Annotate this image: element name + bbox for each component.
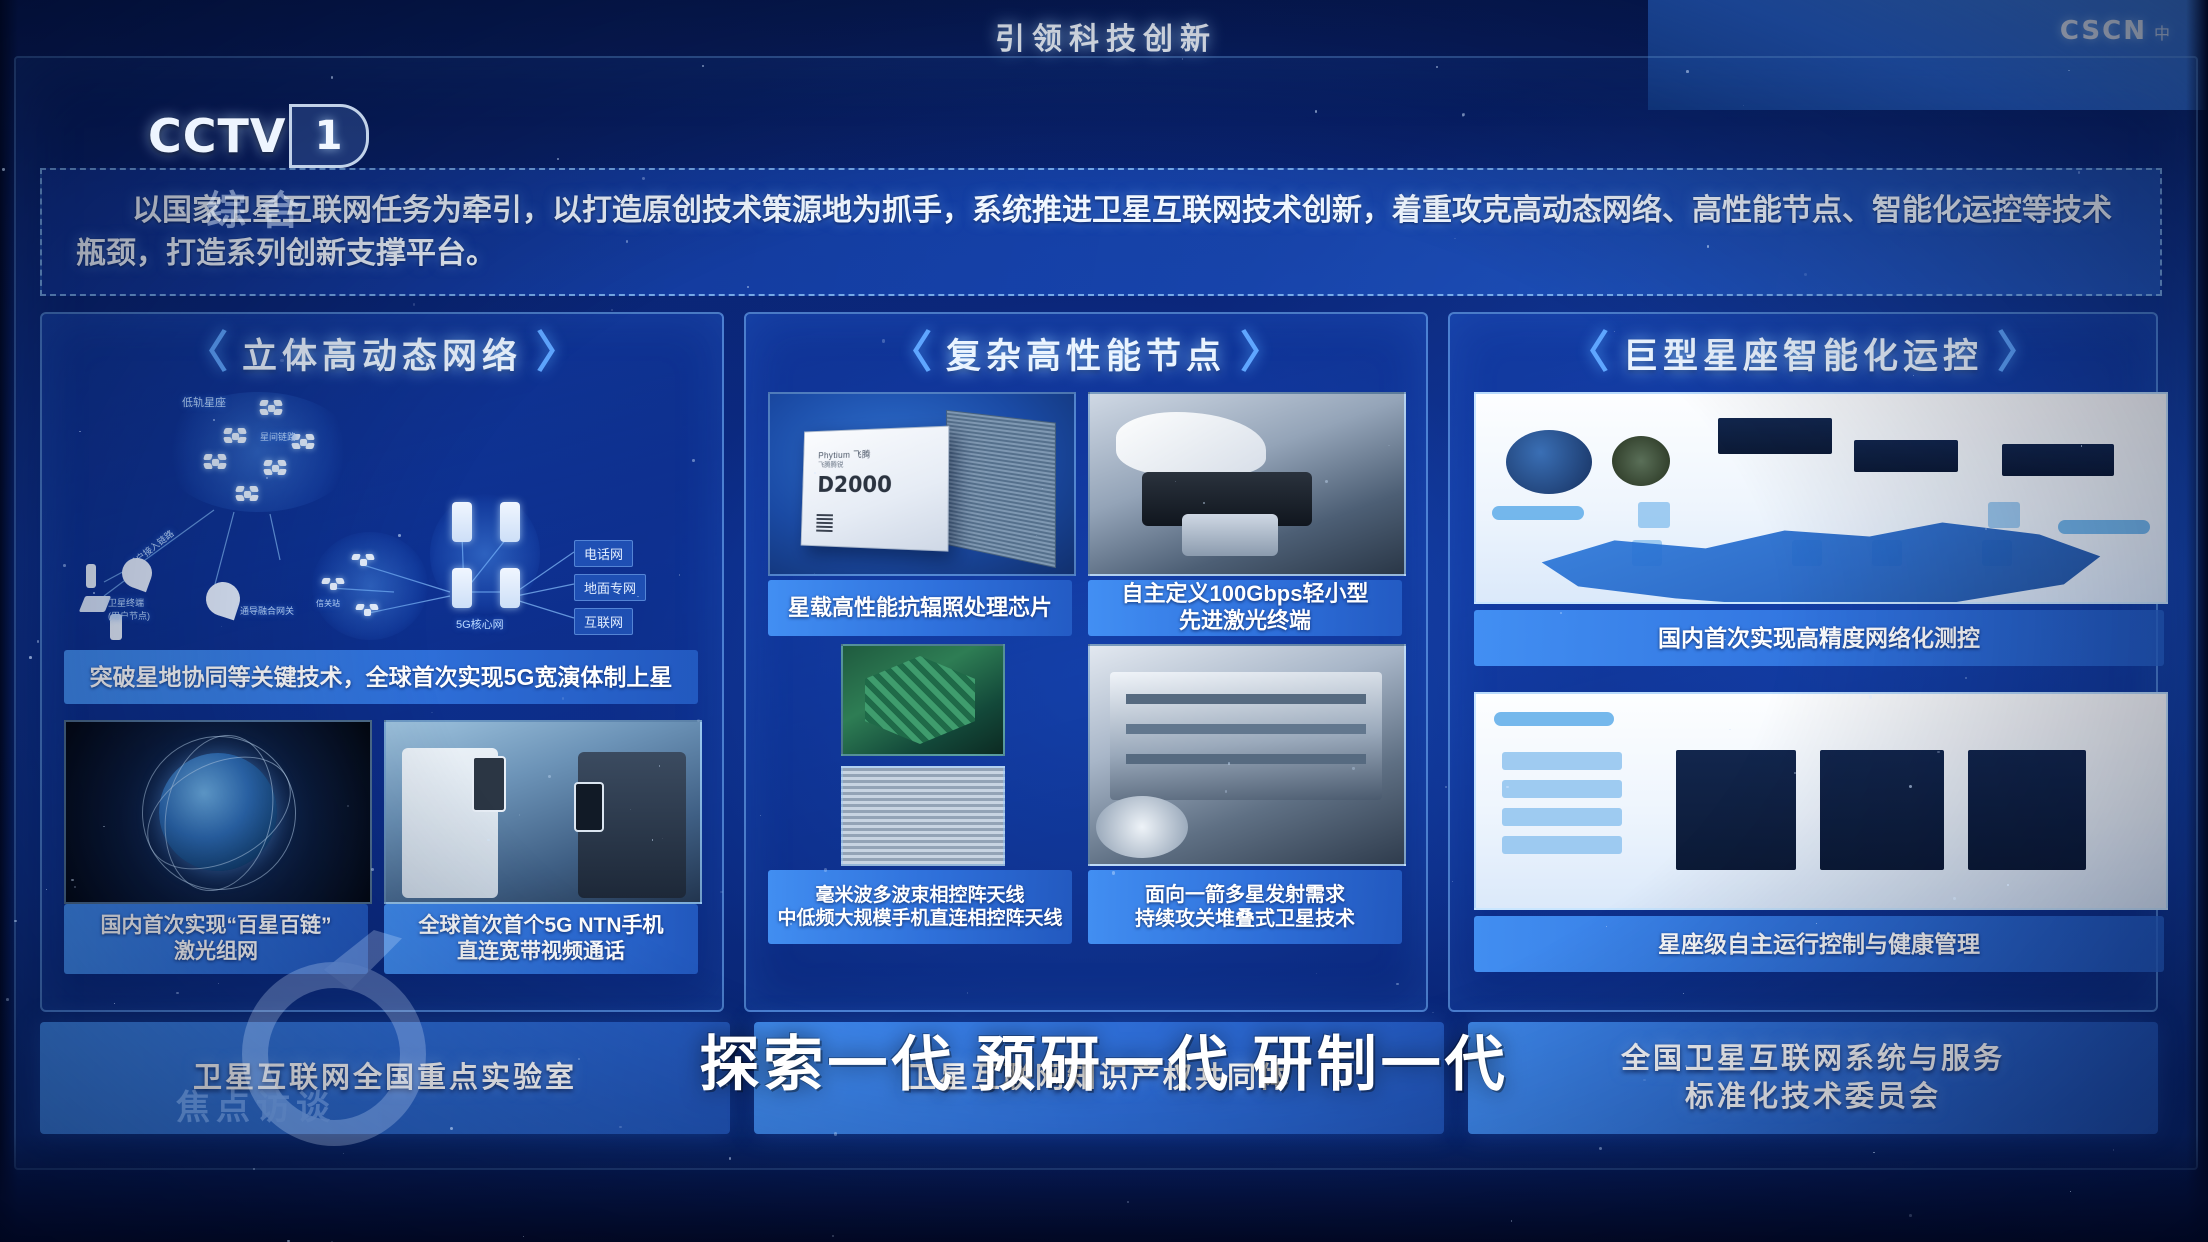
screen-thumb <box>1854 440 1958 472</box>
flow-node <box>1638 502 1670 528</box>
satellite-structure <box>1110 672 1382 800</box>
chevron-left-icon: 〈 <box>184 331 228 375</box>
diagram-label-gateway: 通导融合网关 <box>240 604 294 617</box>
phased-array-panel-photo <box>841 766 1005 866</box>
station-icon <box>352 554 374 570</box>
panel-3-bottom-caption: 星座级自主运行控制与健康管理 <box>1474 916 2164 972</box>
antenna-array-surface <box>865 656 975 744</box>
mmwave-antenna-photo <box>841 644 1005 756</box>
corner-brand-sub: 中 <box>2154 24 2172 43</box>
laser-base <box>1182 514 1278 556</box>
station-icon <box>322 578 344 594</box>
chip-brand-sub-label: 飞腾腾锐 <box>818 460 844 470</box>
stage-floor <box>0 1134 2208 1242</box>
flow-node <box>1502 836 1622 854</box>
smartphone-icon <box>574 782 604 832</box>
autonomous-control-dashboard <box>1474 692 2168 910</box>
panel-2-antenna-caption: 毫米波多波束相控阵天线 中低频大规模手机直连相控阵天线 <box>768 870 1072 944</box>
screen-thumb <box>1820 750 1944 870</box>
panel-2-header: 〈 复杂高性能节点 〉 <box>746 320 1426 386</box>
broadcast-frame: 引领科技创新 CSCN中 CCTV 1 综合 以国家卫星互联网任务为牵引，以打造… <box>0 0 2208 1242</box>
chip-pin-array <box>946 410 1056 568</box>
panel-2-title: 复杂高性能节点 <box>946 328 1226 379</box>
panel-dynamic-network: 〈 立体高动态网络 〉 低轨星座 星间链路 <box>40 312 724 1012</box>
station-icon <box>356 604 378 620</box>
handset-icon <box>86 564 96 588</box>
nozzle-graphic <box>1096 796 1188 858</box>
panel-3-top-caption: 国内首次实现高精度网络化测控 <box>1474 610 2164 666</box>
dome-graphic <box>1506 430 1592 494</box>
optics-housing <box>1116 412 1266 476</box>
ntn-handset-photo <box>384 720 702 904</box>
panel-tag <box>2058 520 2150 534</box>
channel-subname: 综合 <box>206 178 314 236</box>
screen-thumb <box>2002 444 2114 476</box>
channel-logo: CCTV 1 <box>148 104 369 168</box>
intro-banner: 以国家卫星互联网任务为牵引，以打造原创技术策源地为抓手，系统推进卫星互联网技术创… <box>40 168 2162 296</box>
corner-brand-label: CSCN <box>2060 16 2147 46</box>
stacked-satellite-photo <box>1088 644 1406 866</box>
network-measurement-dashboard <box>1474 392 2168 604</box>
server-icon <box>500 568 520 608</box>
panel-3-title: 巨型星座智能化运控 <box>1623 328 1983 379</box>
server-icon <box>452 568 472 608</box>
panel-tag <box>1492 506 1584 520</box>
core-network-halo <box>430 494 540 614</box>
server-icon <box>452 502 472 542</box>
intro-paragraph: 以国家卫星互联网任务为牵引，以打造原创技术策源地为抓手，系统推进卫星互联网技术创… <box>42 189 2160 276</box>
chip-package: Phytium 飞腾 飞腾腾锐 D2000 <box>801 426 950 552</box>
screen-thumb <box>1968 750 2086 870</box>
server-icon <box>500 502 520 542</box>
chip-model-label: D2000 <box>817 473 892 498</box>
diagram-label-telephone-network: 电话网 <box>574 540 633 567</box>
flow-node <box>1502 808 1622 826</box>
broadcast-subtitle: 探索一代 预研一代 研制一代 <box>0 1016 2208 1103</box>
chevron-left-icon: 〈 <box>1565 331 1609 375</box>
flow-node <box>1502 752 1622 770</box>
dish-graphic <box>1612 436 1670 486</box>
panel-tag <box>1494 712 1614 726</box>
screen-thumb <box>1718 418 1832 454</box>
panel-1-right-caption: 全球首次首个5G NTN手机 直连宽带视频通话 <box>384 904 698 974</box>
panel-2-chip-caption: 星载高性能抗辐照处理芯片 <box>768 580 1072 636</box>
chevron-left-icon: 〈 <box>888 331 932 375</box>
stage-header-title: 引领科技创新 <box>576 14 1636 58</box>
channel-number-badge: 1 <box>289 104 369 168</box>
diagram-label-5g-core: 5G核心网 <box>456 616 504 632</box>
flow-node <box>1502 780 1622 798</box>
panel-1-main-caption: 突破星地协同等关键技术，全球首次实现5G宽演体制上星 <box>64 650 698 704</box>
panel-constellation-control: 〈 巨型星座智能化运控 〉 国内首次实现高精度网络化测控 <box>1448 312 2158 1012</box>
panel-2-laser-caption: 自主定义100Gbps轻小型 先进激光终端 <box>1088 580 1402 636</box>
chip-qr-icon <box>816 514 833 532</box>
laser-mesh-photo <box>64 720 372 904</box>
diagram-label-private-network: 地面专网 <box>574 574 646 601</box>
panel-1-header: 〈 立体高动态网络 〉 <box>42 320 722 386</box>
chevron-right-icon: 〉 <box>1997 331 2041 375</box>
diagram-label-ground-station: 信关站 <box>316 598 340 609</box>
smartphone-icon <box>472 756 506 812</box>
chevron-right-icon: 〉 <box>1240 331 1284 375</box>
diagram-label-user-terminal: 卫星终端 (用户节点) <box>108 596 150 622</box>
flow-node <box>1988 502 2020 528</box>
panel-row: 〈 立体高动态网络 〉 低轨星座 星间链路 <box>40 312 2158 1012</box>
screen-thumb <box>1676 750 1796 870</box>
corner-brand-cscn: CSCN中 <box>2060 16 2172 46</box>
panel-2-satellite-caption: 面向一箭多星发射需求 持续攻关堆叠式卫星技术 <box>1088 870 1402 944</box>
panel-1-title: 立体高动态网络 <box>242 328 522 379</box>
diagram-label-internet: 互联网 <box>574 608 633 635</box>
network-topology-diagram: 低轨星座 星间链路 <box>64 392 698 640</box>
chevron-right-icon: 〉 <box>536 331 580 375</box>
panel-high-performance-node: 〈 复杂高性能节点 〉 Phytium 飞腾 飞腾腾锐 D2000 星载高性能抗… <box>744 312 1428 1012</box>
satellite-rib <box>1126 724 1366 734</box>
satellite-rib <box>1126 694 1366 704</box>
channel-number: 1 <box>315 113 343 159</box>
processor-chip-photo: Phytium 飞腾 飞腾腾锐 D2000 <box>768 392 1076 576</box>
satellite-rib <box>1126 754 1366 764</box>
china-map-graphic <box>1517 510 2124 604</box>
panel-3-header: 〈 巨型星座智能化运控 〉 <box>1450 320 2156 386</box>
channel-logo-text: CCTV <box>148 109 287 163</box>
laser-terminal-photo <box>1088 392 1406 576</box>
